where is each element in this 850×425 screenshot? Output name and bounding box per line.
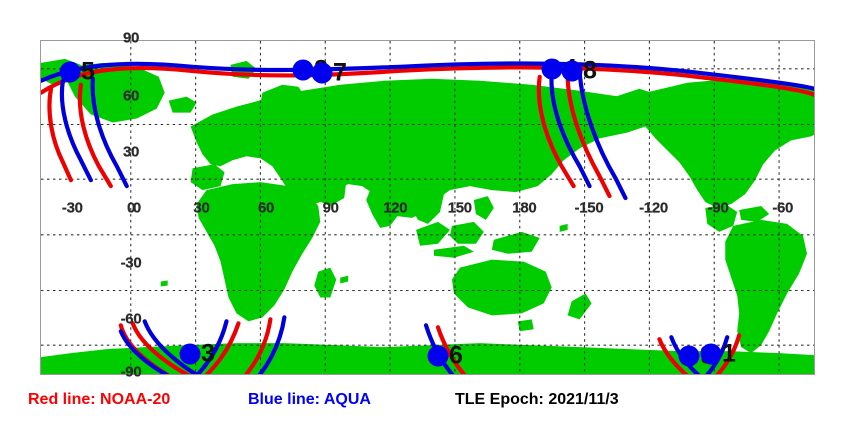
java-shape: [434, 246, 474, 258]
south-america-shape: [725, 220, 807, 353]
longitude-tick-label: -90: [708, 200, 729, 215]
longitude-tick-label: -60: [772, 200, 793, 215]
satellite-dot-icon: [312, 63, 333, 84]
satellite-dot-icon: [701, 344, 722, 365]
latitude-tick-label: 30: [123, 144, 139, 159]
longitude-tick-label: 180: [512, 200, 536, 215]
philippines-shape: [474, 196, 494, 220]
satellite-index-label: 8: [583, 59, 597, 84]
satellite-index-label: 5: [81, 60, 95, 85]
longitude-tick-label: 30: [193, 200, 209, 215]
latitude-tick-label: -90: [121, 365, 142, 380]
longitude-tick-label: 120: [383, 200, 407, 215]
longitude-tick-label: 60: [258, 200, 274, 215]
longitude-tick-label: 150: [448, 200, 472, 215]
island-dot-2: [560, 224, 568, 232]
caribbean-shape: [739, 206, 769, 222]
satellite-dot-icon: [60, 62, 81, 83]
latitude-tick-label: -60: [121, 312, 142, 327]
longitude-tick-label: -30: [62, 200, 83, 215]
latitude-tick-label: 90: [123, 31, 139, 46]
satellite-index-label: 1: [722, 342, 736, 367]
legend-red-line-noaa20: Red line: NOAA-20: [28, 392, 170, 408]
world-map-svg: [41, 41, 814, 374]
satellite-dot-icon: [180, 344, 201, 365]
island-dot-3: [161, 281, 168, 287]
satellite-dot-icon: [562, 61, 583, 82]
world-map-plot: 527483691: [40, 40, 815, 375]
latitude-tick-label: -30: [121, 256, 142, 271]
north-america-shape: [639, 79, 814, 208]
sumatra-shape: [416, 222, 450, 246]
satellite-index-label: 3: [201, 342, 215, 367]
map-legend: Red line: NOAA-20 Blue line: AQUA TLE Ep…: [0, 392, 850, 420]
satellite-ground-track-app: 527483691 -300306090120150180-150-120-90…: [0, 0, 850, 425]
satellite-dot-icon: [428, 346, 449, 367]
satellite-index-label: 7: [333, 61, 347, 86]
longitude-tick-label: 90: [323, 200, 339, 215]
indochina-shape: [410, 186, 444, 224]
satellite-dot-icon: [679, 346, 700, 367]
iceland-shape: [169, 97, 197, 113]
latitude-tick-label: 60: [123, 88, 139, 103]
australia-shape: [452, 260, 552, 316]
satellite-dot-icon: [542, 59, 563, 80]
island-dot-1: [340, 276, 348, 284]
legend-tle-epoch: TLE Epoch: 2021/11/3: [455, 392, 619, 408]
longitude-tick-label: -120: [639, 200, 668, 215]
latitude-tick-label: 0: [127, 200, 135, 215]
satellite-index-label: 6: [449, 344, 463, 369]
legend-blue-line-aqua: Blue line: AQUA: [248, 392, 371, 408]
satellite-dot-icon: [293, 60, 314, 81]
longitude-tick-label: -150: [575, 200, 604, 215]
newzealand-shape: [568, 293, 592, 319]
